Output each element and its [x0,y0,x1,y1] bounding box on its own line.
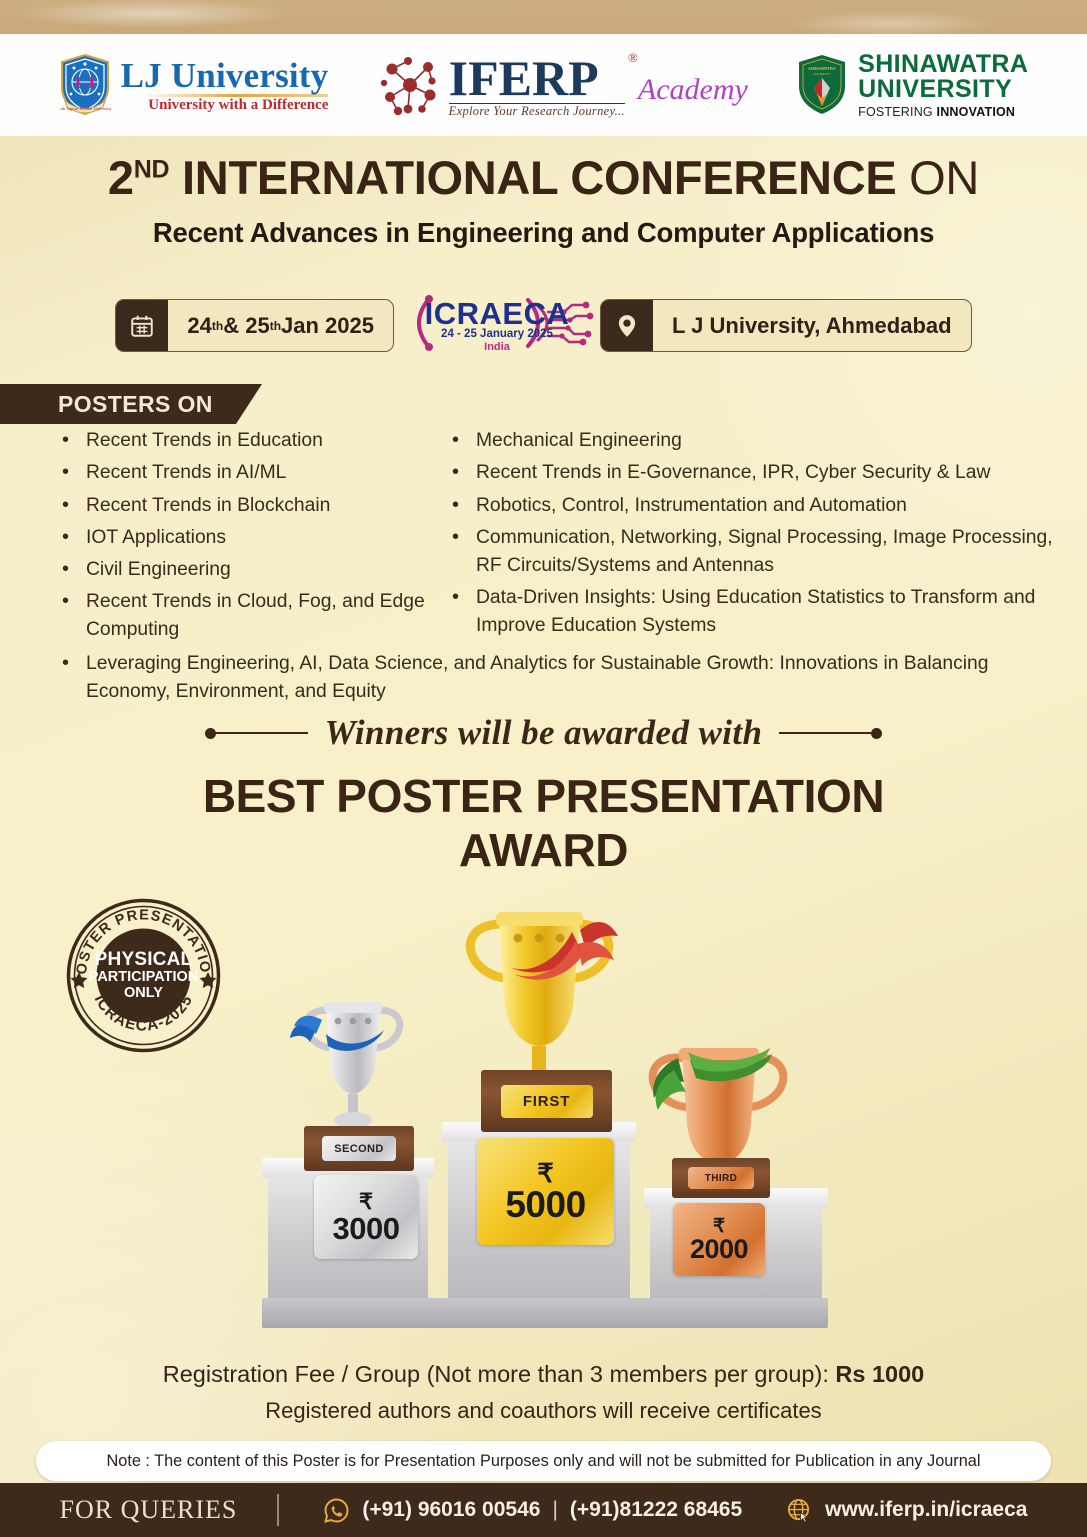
award-title-line1: BEST POSTER PRESENTATION [0,770,1087,824]
list-item: Mechanical Engineering [444,427,1069,455]
conference-title-block: 2ND INTERNATIONAL CONFERENCE ON Recent A… [0,152,1087,249]
award-title: BEST POSTER PRESENTATION AWARD [0,770,1087,878]
conference-poster: LJ Lok Jagruti Kendra University LJ Univ… [0,0,1087,1537]
title-ordinal: 2 [108,151,134,204]
shinawatra-line3: FOSTERING INNOVATION [858,106,1028,119]
list-item: Leveraging Engineering, AI, Data Science… [54,650,1061,706]
list-item: Recent Trends in AI/ML [54,459,430,487]
date-day1-suffix: th [212,319,223,333]
whatsapp-icon[interactable] [323,1497,350,1524]
title-ordinal-suffix: ND [134,155,170,183]
currency-symbol-third: ₹ [713,1217,725,1236]
icraeca-event-logo: ICRAECA 24 - 25 January 2025 India [408,296,586,355]
map-pin-icon [601,300,653,351]
amount-second: 3000 [333,1213,400,1244]
sponsor-logo-strip: LJ Lok Jagruti Kendra University LJ Univ… [0,34,1087,136]
list-item: Recent Trends in Cloud, Fog, and Edge Co… [54,588,430,644]
phone-number-2[interactable]: (+91)81222 68465 [570,1498,742,1522]
phone-separator: | [552,1498,557,1522]
list-item: Communication, Networking, Signal Proces… [444,524,1069,580]
registration-fee-text: Registration Fee / Group (Not more than … [163,1361,836,1387]
date-day2: & 25 [223,313,269,339]
footer-website[interactable]: www.iferp.in/icraeca [786,1497,1027,1524]
iferp-academy-logo: IFERP ® Explore Your Research Journey...… [378,53,748,118]
list-item: Data-Driven Insights: Using Education St… [444,584,1069,640]
list-item: Recent Trends in E-Governance, IPR, Cybe… [444,459,1069,487]
shinawatra-line2: UNIVERSITY [858,77,1028,103]
posters-on-banner: POSTERS ON [0,384,262,424]
shinawatra-shield-icon: SHINAWATRA UNIVERSITY [797,54,847,116]
top-decorative-band [0,0,1087,34]
footer-contact-bar: FOR QUERIES (+91) 96016 00546 | (+91)812… [0,1483,1087,1537]
plaque-first-label: FIRST [501,1085,593,1118]
registration-info: Registration Fee / Group (Not more than … [0,1361,1087,1424]
iferp-academy-text: Academy [638,73,748,117]
topics-full-list: Leveraging Engineering, AI, Data Science… [54,650,1061,706]
iferp-wordmark: IFERP ® Explore Your Research Journey... [449,53,625,118]
icraeca-dates: 24 - 25 January 2025 [425,328,570,340]
topics-right-list: Mechanical Engineering Recent Trends in … [444,427,1069,639]
lj-university-tagline: University with a Difference [121,98,329,113]
script-rule-right [779,732,871,734]
lj-university-text: LJ University University with a Differen… [121,58,329,113]
iferp-tagline: Explore Your Research Journey... [449,103,625,118]
topics-full-width-row: Leveraging Engineering, AI, Data Science… [0,650,1087,706]
registration-fee-amount: Rs 1000 [835,1361,924,1387]
conference-subtitle: Recent Advances in Engineering and Compu… [0,217,1087,249]
prize-podium: SECOND FIRST THIRD ₹ 3000 ₹ 5000 ₹ 2000 [0,880,1087,1310]
page-title: 2ND INTERNATIONAL CONFERENCE ON [0,152,1087,205]
prize-amount-third: ₹ 2000 [673,1203,765,1276]
topics-right-column: Mechanical Engineering Recent Trends in … [430,427,1087,648]
registration-fee-line: Registration Fee / Group (Not more than … [0,1361,1087,1388]
shinawatra-text: SHINAWATRA UNIVERSITY FOSTERING INNOVATI… [858,52,1028,119]
icraeca-wordmark: ICRAECA 24 - 25 January 2025 India [425,296,570,353]
date-day2-suffix: th [270,319,281,333]
registered-trademark-icon: ® [628,51,638,64]
footer-phones: (+91) 96016 00546 | (+91)81222 68465 [279,1497,786,1524]
amount-third: 2000 [690,1236,748,1263]
event-info-row: 24th & 25th Jan 2025 [0,296,1087,355]
podium-floor [262,1298,828,1328]
lj-shield-icon: LJ Lok Jagruti Kendra University [59,54,111,116]
prize-amount-first: ₹ 5000 [477,1138,614,1245]
topics-columns: Recent Trends in Education Recent Trends… [0,427,1087,648]
icraeca-acronym: ICRAECA [425,296,570,332]
certificates-line: Registered authors and coauthors will re… [0,1398,1087,1424]
currency-symbol-first: ₹ [537,1160,554,1186]
location-chip: L J University, Ahmedabad [600,299,972,352]
date-day1: 24 [187,313,211,339]
list-item: Robotics, Control, Instrumentation and A… [444,492,1069,520]
topics-section: Recent Trends in Education Recent Trends… [0,427,1087,711]
list-item: Civil Engineering [54,556,430,584]
plaque-second: SECOND [304,1126,414,1171]
svg-text:SHINAWATRA: SHINAWATRA [808,66,836,71]
title-on: ON [909,151,979,204]
amount-first: 5000 [505,1186,585,1223]
award-title-line2: AWARD [0,824,1087,878]
for-queries-label: FOR QUERIES [60,1495,278,1525]
globe-icon[interactable] [786,1497,813,1524]
calendar-icon [116,300,168,351]
plaque-third-label: THIRD [688,1167,754,1189]
molecule-icon [378,53,442,117]
topics-left-list: Recent Trends in Education Recent Trends… [54,427,430,644]
title-main: INTERNATIONAL CONFERENCE [182,151,896,204]
note-banner: Note : The content of this Poster is for… [36,1441,1051,1481]
list-item: Recent Trends in Education [54,427,430,455]
lj-university-name: LJ University [121,58,329,93]
shinawatra-university-logo: SHINAWATRA UNIVERSITY SHINAWATRA UNIVERS… [797,52,1028,119]
icraeca-country: India [425,341,570,353]
plaque-third: THIRD [672,1158,770,1198]
phone-number-1[interactable]: (+91) 96016 00546 [362,1498,540,1522]
topics-left-column: Recent Trends in Education Recent Trends… [0,427,430,648]
date-month-year: Jan 2025 [281,313,374,339]
script-rule-left [216,732,308,734]
location-text: L J University, Ahmedabad [653,300,971,351]
prize-amount-second: ₹ 3000 [314,1175,418,1259]
currency-symbol-second: ₹ [359,1191,373,1213]
svg-text:LJ: LJ [75,73,95,92]
winners-text: Winners will be awarded with [325,713,763,753]
date-chip: 24th & 25th Jan 2025 [115,299,394,352]
list-item: Recent Trends in Blockchain [54,492,430,520]
shinawatra-innovation: INNOVATION [937,105,1016,119]
plaque-second-label: SECOND [322,1136,396,1161]
winners-script-line: Winners will be awarded with [0,713,1087,753]
shinawatra-fostering: FOSTERING [858,105,936,119]
iferp-main-text: IFERP [449,53,625,103]
svg-text:UNIVERSITY: UNIVERSITY [813,72,831,76]
svg-text:Lok Jagruti Kendra University: Lok Jagruti Kendra University [59,106,111,111]
plaque-first: FIRST [481,1070,612,1132]
lj-university-logo: LJ Lok Jagruti Kendra University LJ Univ… [59,54,329,116]
website-url[interactable]: www.iferp.in/icraeca [825,1498,1027,1522]
list-item: IOT Applications [54,524,430,552]
shinawatra-line1: SHINAWATRA [858,52,1028,78]
date-text: 24th & 25th Jan 2025 [168,300,393,351]
